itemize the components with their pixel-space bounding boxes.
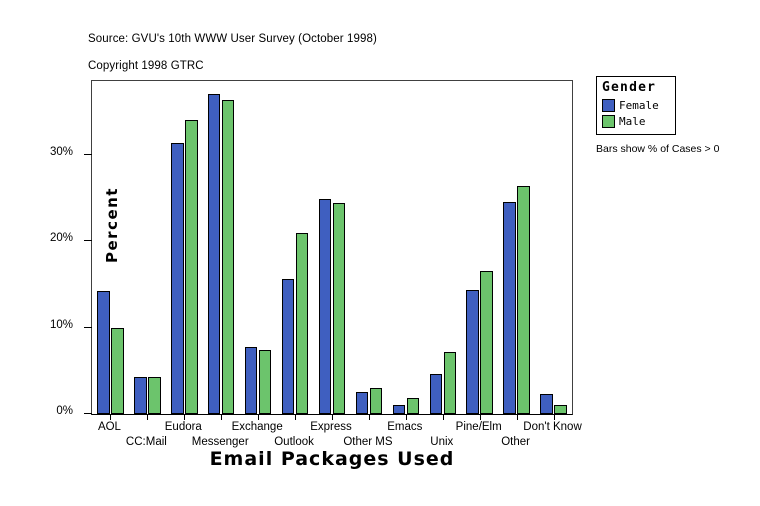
bar <box>97 291 110 414</box>
bar <box>517 186 530 414</box>
x-tick <box>517 414 518 420</box>
x-tick <box>184 414 185 420</box>
bar <box>185 120 198 414</box>
bar <box>245 347 258 414</box>
x-axis-title: Email Packages Used <box>91 448 573 470</box>
bar <box>282 279 295 414</box>
y-tick: 20% <box>84 240 92 241</box>
x-tick <box>406 414 407 420</box>
x-axis-label-item: Messenger <box>192 436 249 448</box>
bar <box>393 405 406 415</box>
y-tick: 10% <box>84 327 92 328</box>
y-tick-label: 10% <box>50 319 73 331</box>
y-tick-label: 0% <box>56 405 73 417</box>
legend-label-male: Male <box>619 115 646 128</box>
x-axis-label-item: Unix <box>430 436 453 448</box>
legend-item-male: Male <box>602 114 671 128</box>
x-axis-label-item: AOL <box>98 421 121 433</box>
x-tick <box>369 414 370 420</box>
bar <box>540 394 553 414</box>
bar <box>407 398 420 414</box>
x-axis-label-item: Express <box>310 421 352 433</box>
x-axis-label-item: Other MS <box>343 436 392 448</box>
bar <box>111 328 124 414</box>
legend-title: Gender <box>602 80 671 95</box>
bar <box>319 199 332 414</box>
x-tick <box>332 414 333 420</box>
plot-area: Percent 0%10%20%30% <box>91 80 573 415</box>
x-tick <box>480 414 481 420</box>
y-tick-label: 30% <box>50 146 73 158</box>
bar <box>333 203 346 414</box>
bar <box>554 405 567 415</box>
x-axis-label-item: Pine/Elm <box>456 421 502 433</box>
bars-note: Bars show % of Cases > 0 <box>596 143 719 155</box>
bar <box>222 100 235 414</box>
chart-container: Source: GVU's 10th WWW User Survey (Octo… <box>0 0 760 506</box>
x-tick <box>258 414 259 420</box>
bar <box>148 377 161 414</box>
legend-label-female: Female <box>619 99 659 112</box>
bar <box>208 94 221 414</box>
y-tick: 30% <box>84 154 92 155</box>
bar <box>296 233 309 414</box>
x-tick <box>147 414 148 420</box>
source-note: Source: GVU's 10th WWW User Survey (Octo… <box>88 33 377 45</box>
bar <box>503 202 516 414</box>
bar <box>466 290 479 414</box>
bars-layer <box>92 81 572 414</box>
x-axis-label-item: Don't Know <box>523 421 581 433</box>
bar <box>480 271 493 414</box>
x-axis-label-item: Eudora <box>165 421 202 433</box>
y-tick: 0% <box>84 413 92 414</box>
legend-swatch-female <box>602 99 615 112</box>
x-axis-label-item: Emacs <box>387 421 422 433</box>
y-tick-label: 20% <box>50 232 73 244</box>
x-tick <box>554 414 555 420</box>
legend-item-female: Female <box>602 98 671 112</box>
bar <box>134 377 147 414</box>
legend: Gender Female Male <box>596 76 676 135</box>
x-axis-label-item: Other <box>501 436 530 448</box>
copyright-note: Copyright 1998 GTRC <box>88 60 204 72</box>
x-tick <box>110 414 111 420</box>
bar <box>259 350 272 414</box>
x-axis-label-item: Exchange <box>232 421 283 433</box>
x-tick <box>443 414 444 420</box>
bar <box>171 143 184 414</box>
bar <box>444 352 457 414</box>
bar <box>430 374 443 414</box>
x-tick <box>295 414 296 420</box>
legend-swatch-male <box>602 115 615 128</box>
bar <box>356 392 369 414</box>
x-axis-label-item: Outlook <box>274 436 314 448</box>
x-axis-label-item: CC:Mail <box>126 436 167 448</box>
x-tick <box>221 414 222 420</box>
bar <box>370 388 383 414</box>
